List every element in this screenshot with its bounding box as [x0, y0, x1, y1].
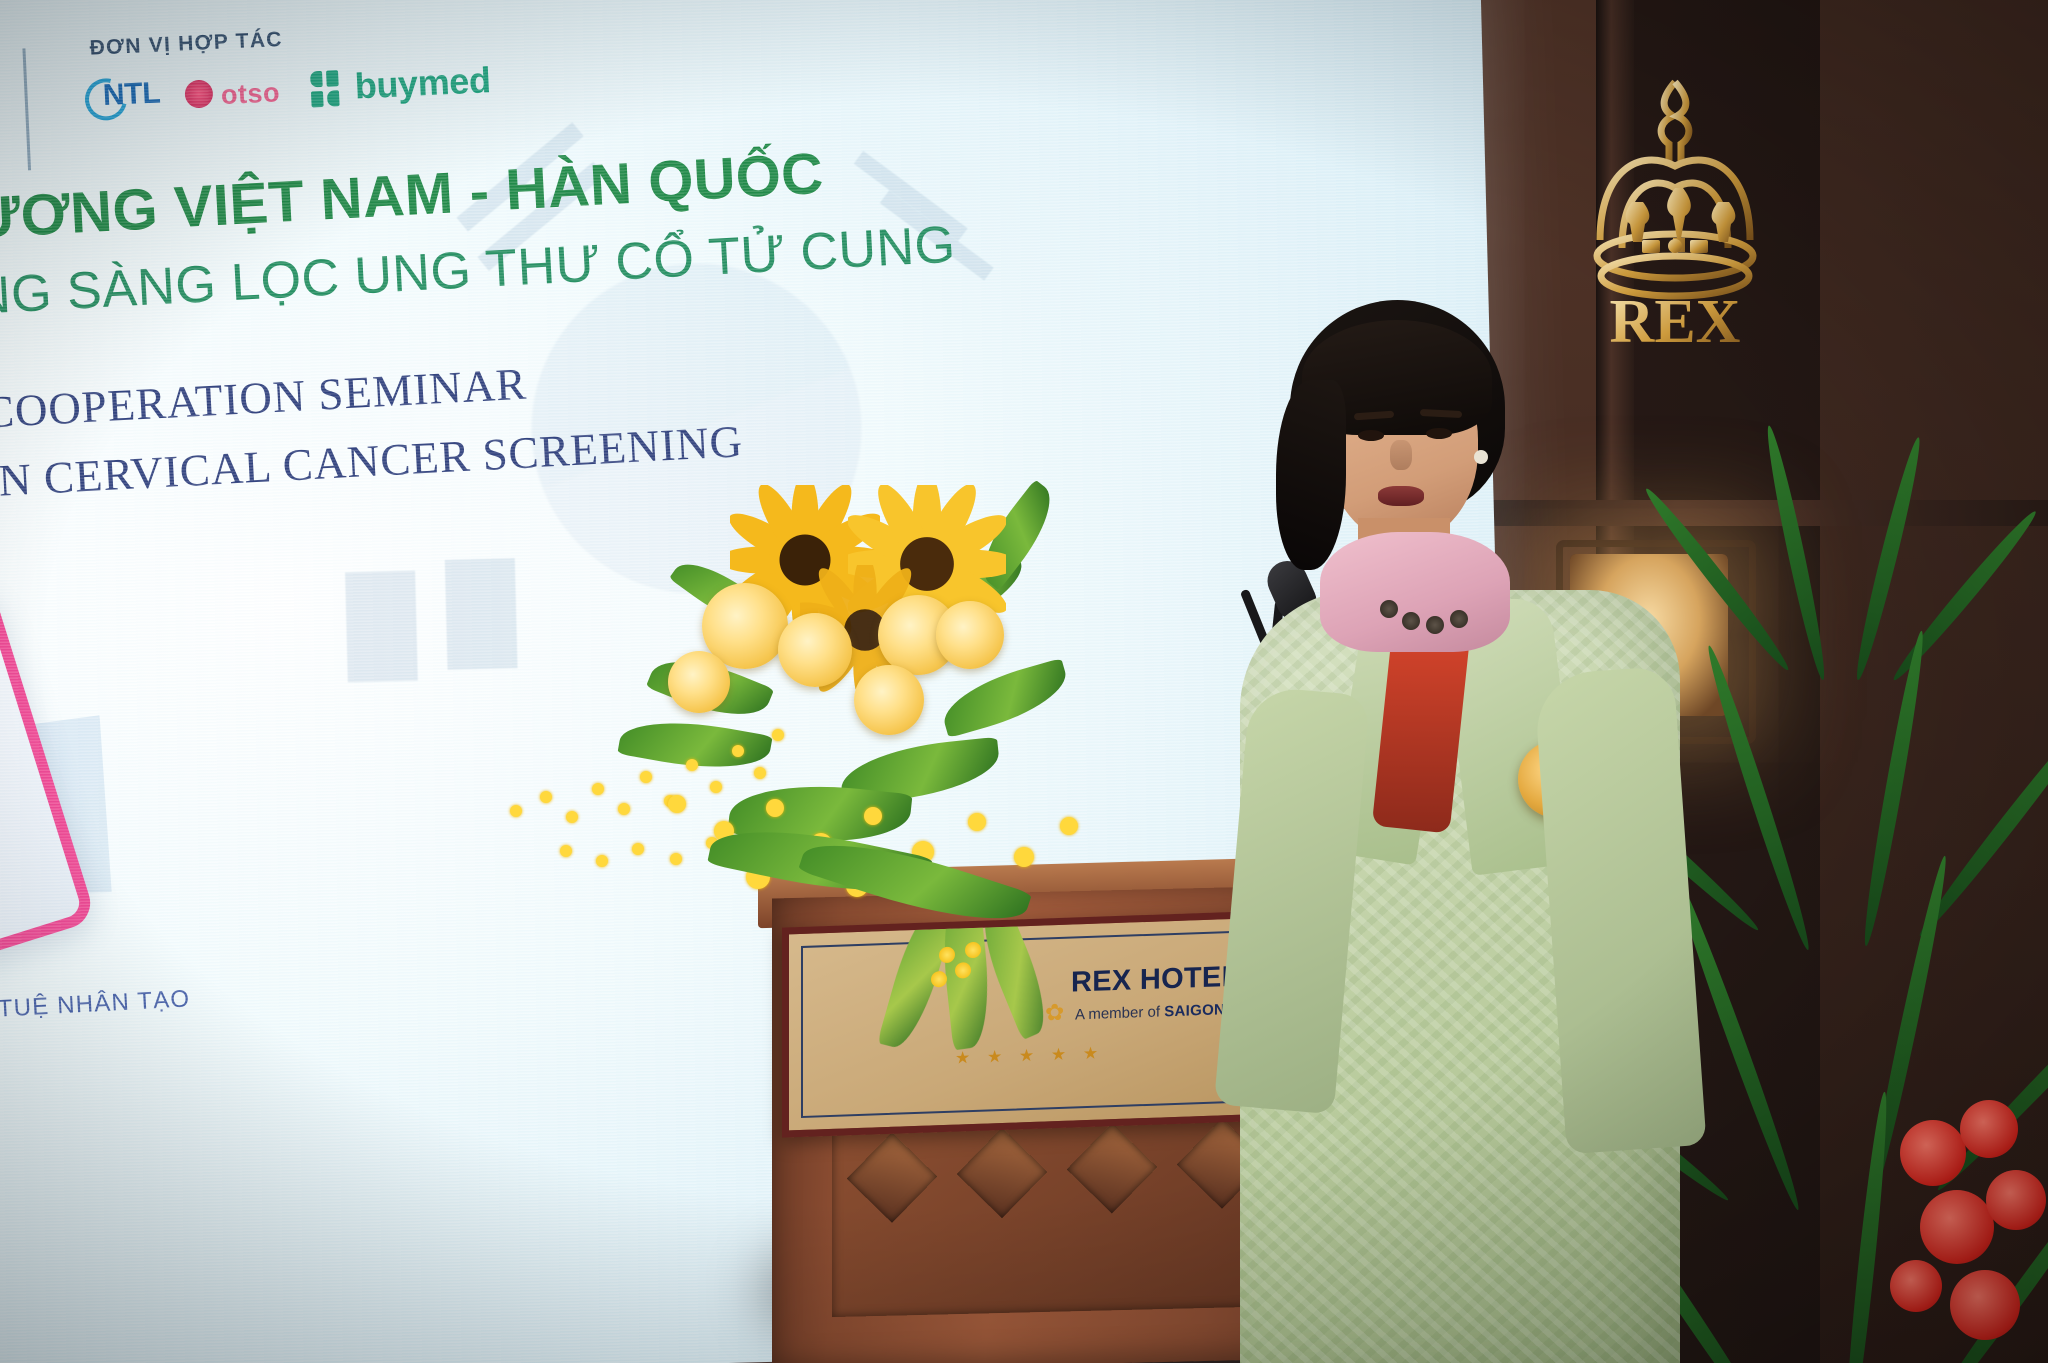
- necklace-bead-3: [1426, 616, 1444, 634]
- saigontourist-flower-icon: ✿: [1045, 999, 1064, 1027]
- necklace-bead-2: [1402, 612, 1420, 630]
- partners-label: ĐƠN VỊ HỢP TÁC: [89, 28, 283, 61]
- bouquet-leaf-7: [936, 658, 1074, 738]
- conference-photo: REX: [0, 0, 2048, 1363]
- device-illustration: [0, 541, 257, 1050]
- necklace-bead-4: [1450, 610, 1468, 628]
- buymed-logo-mark: [310, 70, 340, 107]
- speaker-hair-side: [1276, 380, 1346, 570]
- buymed-logo: buymed: [354, 59, 492, 107]
- red-flower-cluster: [1890, 1100, 2048, 1363]
- otso-logo-mark: [185, 80, 214, 109]
- otso-logo: otso: [220, 77, 281, 111]
- earring: [1474, 450, 1488, 464]
- speaker-mouth: [1378, 486, 1424, 506]
- watermark-bar-5: [345, 571, 418, 683]
- speaker-eye-right: [1426, 428, 1452, 439]
- slide-title-english: A COOPERATION SEMINAR: [0, 358, 528, 441]
- speaker-eye-left: [1358, 430, 1384, 441]
- speaker-nose: [1390, 440, 1412, 470]
- speaker-person: [1250, 300, 1680, 1363]
- member-prefix: A member of: [1075, 1003, 1164, 1023]
- necklace-bead-1: [1380, 600, 1398, 618]
- rose-6: [854, 665, 924, 735]
- speaker-scarf: [1320, 532, 1510, 652]
- flower-bouquet: [610, 455, 1230, 905]
- rose-4: [936, 601, 1004, 669]
- partners-divider: [22, 48, 31, 170]
